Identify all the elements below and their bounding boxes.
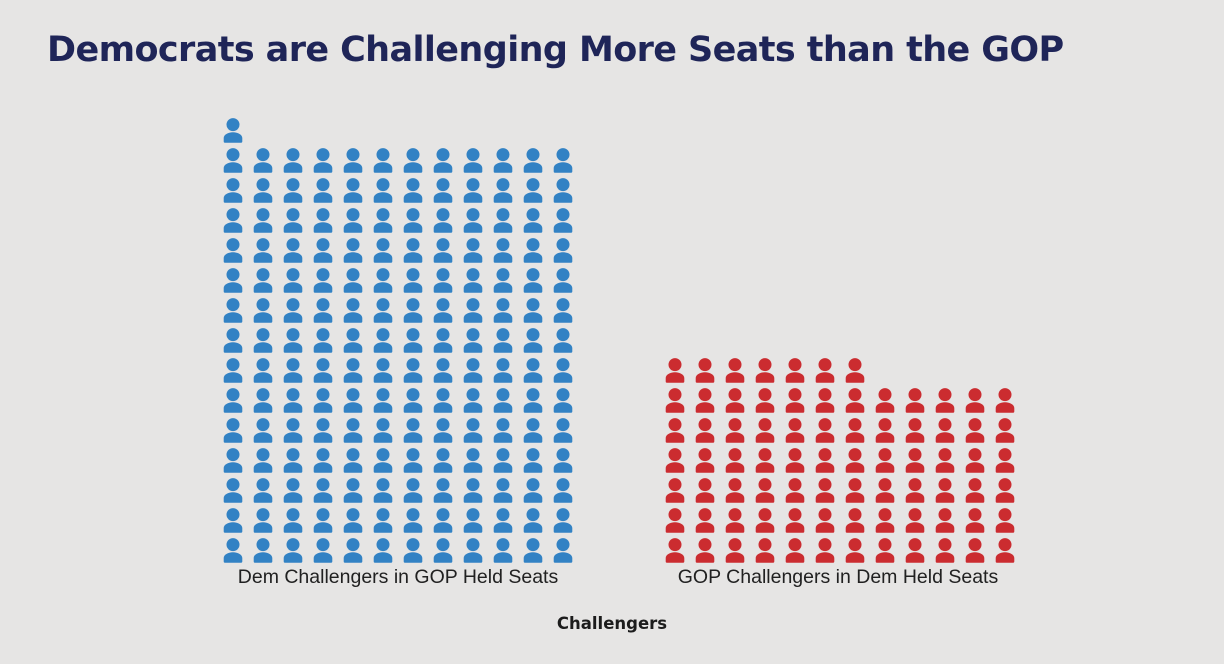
person-icon [458,175,488,205]
person-icon-shape [550,208,576,233]
person-icon [308,175,338,205]
person-icon [810,505,840,535]
pictogram-row [660,385,1020,415]
person-icon [398,295,428,325]
person-icon-shape [280,358,306,383]
person-icon [840,445,870,475]
person-icon-shape [400,448,426,473]
pictogram-row [218,325,578,355]
person-icon-shape [752,358,778,383]
person-icon-shape [722,478,748,503]
person-icon-shape [280,448,306,473]
person-icon-shape [520,538,546,563]
person-icon-shape [280,538,306,563]
person-icon-shape [752,478,778,503]
person-icon [930,415,960,445]
person-icon-shape [902,388,928,413]
person-icon [218,505,248,535]
pictogram-row [218,355,578,385]
person-icon [660,535,690,565]
person-icon [960,535,990,565]
person-icon-shape [460,298,486,323]
pictogram-row [660,505,1020,535]
person-icon [548,535,578,565]
person-icon-shape [872,538,898,563]
person-icon [398,475,428,505]
person-icon [780,475,810,505]
person-icon-shape [310,538,336,563]
person-icon [548,355,578,385]
person-icon [398,205,428,235]
person-icon [810,535,840,565]
person-icon-shape [692,538,718,563]
person-icon [518,355,548,385]
person-icon-shape [460,148,486,173]
person-icon-shape [460,208,486,233]
person-icon [338,535,368,565]
person-icon-shape [430,178,456,203]
person-icon [810,415,840,445]
person-icon [548,385,578,415]
person-icon [428,295,458,325]
person-icon [990,505,1020,535]
person-icon [750,385,780,415]
person-icon [518,145,548,175]
person-icon [690,475,720,505]
person-icon [218,265,248,295]
person-icon [278,385,308,415]
person-icon [398,445,428,475]
person-icon [428,505,458,535]
person-icon [308,445,338,475]
person-icon [308,325,338,355]
person-icon [518,205,548,235]
person-icon [548,445,578,475]
person-icon-shape [460,358,486,383]
person-icon [368,235,398,265]
person-icon [248,355,278,385]
person-icon-shape [520,388,546,413]
person-icon-shape [220,478,246,503]
person-icon-shape [992,538,1018,563]
person-icon [398,145,428,175]
person-icon [488,505,518,535]
person-icon-shape [370,418,396,443]
person-icon [278,205,308,235]
person-icon-shape [812,388,838,413]
person-icon [900,505,930,535]
person-icon [870,505,900,535]
person-icon-shape [280,148,306,173]
person-icon-shape [752,538,778,563]
pictogram-row [218,175,578,205]
person-icon [810,385,840,415]
person-icon [368,355,398,385]
person-icon-shape [220,178,246,203]
person-icon-shape [460,238,486,263]
plot-area: Dem Challengers in GOP Held Seats GOP Ch… [0,0,1224,664]
person-icon [248,295,278,325]
person-icon-shape [400,508,426,533]
person-icon-shape [662,358,688,383]
person-icon-shape [490,538,516,563]
person-icon-shape [220,148,246,173]
person-icon-shape [340,388,366,413]
person-icon-shape [962,508,988,533]
person-icon-shape [250,538,276,563]
person-icon-shape [460,448,486,473]
person-icon [398,535,428,565]
person-icon-shape [520,328,546,353]
person-icon-shape [490,418,516,443]
person-icon-shape [550,298,576,323]
person-icon [488,205,518,235]
person-icon [428,535,458,565]
person-icon [720,445,750,475]
person-icon-shape [460,478,486,503]
person-icon [810,355,840,385]
person-icon [338,325,368,355]
person-icon [428,475,458,505]
person-icon [870,385,900,415]
person-icon [870,445,900,475]
person-icon [720,505,750,535]
person-icon-shape [280,418,306,443]
person-icon-shape [430,328,456,353]
person-icon-shape [520,358,546,383]
person-icon-shape [550,448,576,473]
person-icon [428,445,458,475]
person-icon [458,385,488,415]
person-icon-shape [842,478,868,503]
person-icon [338,505,368,535]
person-icon-shape [370,268,396,293]
person-icon-shape [902,538,928,563]
pictogram-chart: Democrats are Challenging More Seats tha… [0,0,1224,664]
person-icon [810,475,840,505]
person-icon-shape [662,478,688,503]
person-icon-shape [932,418,958,443]
person-icon [278,295,308,325]
person-icon-shape [550,238,576,263]
person-icon-shape [310,268,336,293]
person-icon-shape [310,418,336,443]
person-icon [780,415,810,445]
person-icon-shape [722,388,748,413]
person-icon-shape [220,298,246,323]
person-icon [488,145,518,175]
person-icon-shape [490,238,516,263]
person-icon [548,175,578,205]
person-icon [398,325,428,355]
person-icon [368,505,398,535]
person-icon-shape [280,478,306,503]
person-icon [308,355,338,385]
person-icon-shape [220,328,246,353]
person-icon [398,355,428,385]
person-icon-shape [520,298,546,323]
person-icon-shape [460,388,486,413]
pictogram-grid-gop [660,355,1020,565]
person-icon-shape [460,418,486,443]
person-icon [368,145,398,175]
person-icon [900,385,930,415]
person-icon-shape [842,448,868,473]
person-icon-shape [812,508,838,533]
person-icon [488,265,518,295]
person-icon-shape [280,508,306,533]
person-icon [488,355,518,385]
person-icon-shape [550,178,576,203]
person-icon [840,535,870,565]
person-icon-shape [782,538,808,563]
person-icon-shape [662,388,688,413]
pictogram-row [218,235,578,265]
person-icon-shape [220,238,246,263]
person-icon-shape [752,448,778,473]
person-icon [278,325,308,355]
person-icon-shape [250,508,276,533]
person-icon [248,385,278,415]
person-icon [248,475,278,505]
person-icon [218,295,248,325]
person-icon [720,535,750,565]
person-icon-shape [782,478,808,503]
person-icon [278,535,308,565]
person-icon [248,415,278,445]
person-icon [518,505,548,535]
person-icon-shape [400,358,426,383]
person-icon-shape [992,418,1018,443]
person-icon-shape [370,448,396,473]
person-icon [780,385,810,415]
person-icon [780,505,810,535]
person-icon-shape [662,538,688,563]
person-icon-shape [220,208,246,233]
person-icon [248,445,278,475]
person-icon [458,535,488,565]
person-icon-shape [490,268,516,293]
person-icon [308,295,338,325]
person-icon [338,265,368,295]
person-icon [338,475,368,505]
person-icon [428,355,458,385]
person-icon-shape [662,418,688,443]
person-icon [660,445,690,475]
person-icon [368,415,398,445]
person-icon [548,145,578,175]
person-icon-shape [932,508,958,533]
person-icon-shape [932,448,958,473]
person-icon [368,385,398,415]
person-icon [518,475,548,505]
person-icon [518,295,548,325]
person-icon [368,295,398,325]
person-icon-shape [310,358,336,383]
pictogram-group-gop [660,348,1020,565]
person-icon [218,385,248,415]
person-icon [488,385,518,415]
person-icon-shape [842,538,868,563]
person-icon [518,535,548,565]
person-icon-shape [520,178,546,203]
person-icon [840,385,870,415]
person-icon [338,445,368,475]
person-icon [248,505,278,535]
person-icon [218,115,248,145]
person-icon-shape [490,478,516,503]
person-icon-shape [430,388,456,413]
person-icon [248,325,278,355]
person-icon-shape [490,208,516,233]
person-icon [900,445,930,475]
person-icon-shape [280,238,306,263]
person-icon-shape [310,478,336,503]
person-icon-shape [722,538,748,563]
pictogram-row [660,355,870,385]
person-icon-shape [250,148,276,173]
person-icon-shape [722,418,748,443]
person-icon [488,445,518,475]
person-icon-shape [902,508,928,533]
person-icon [488,325,518,355]
person-icon [750,445,780,475]
person-icon [458,205,488,235]
person-icon [398,235,428,265]
person-icon [398,265,428,295]
person-icon [690,505,720,535]
person-icon [458,475,488,505]
person-icon [278,235,308,265]
person-icon-shape [340,328,366,353]
person-icon [548,475,578,505]
person-icon [428,385,458,415]
person-icon [518,415,548,445]
person-icon-shape [280,268,306,293]
person-icon-shape [250,238,276,263]
person-icon-shape [370,508,396,533]
person-icon-shape [250,178,276,203]
person-icon-shape [370,178,396,203]
person-icon [308,535,338,565]
person-icon-shape [220,358,246,383]
person-icon-shape [782,388,808,413]
person-icon [278,175,308,205]
person-icon [278,475,308,505]
person-icon-shape [400,268,426,293]
pictogram-row [218,115,248,145]
pictogram-row [218,445,578,475]
person-icon [338,145,368,175]
person-icon [720,385,750,415]
person-icon-shape [722,448,748,473]
person-icon [960,475,990,505]
person-icon-shape [430,418,456,443]
person-icon-shape [490,298,516,323]
person-icon-shape [310,148,336,173]
person-icon [518,325,548,355]
person-icon [750,505,780,535]
person-icon-shape [280,208,306,233]
person-icon [930,535,960,565]
person-icon [308,415,338,445]
person-icon [870,535,900,565]
person-icon [720,415,750,445]
person-icon-shape [310,208,336,233]
person-icon-shape [280,298,306,323]
person-icon-shape [490,388,516,413]
person-icon-shape [430,358,456,383]
person-icon-shape [250,328,276,353]
person-icon-shape [280,328,306,353]
person-icon-shape [812,538,838,563]
person-icon [900,535,930,565]
person-icon-shape [220,538,246,563]
person-icon [750,475,780,505]
person-icon [690,415,720,445]
person-icon [690,535,720,565]
person-icon-shape [812,448,838,473]
person-icon-shape [280,178,306,203]
person-icon [308,385,338,415]
person-icon [488,235,518,265]
person-icon [218,415,248,445]
pictogram-row [218,415,578,445]
person-icon [458,325,488,355]
pictogram-row [218,205,578,235]
person-icon-shape [220,268,246,293]
person-icon [518,265,548,295]
person-icon [458,295,488,325]
person-icon [368,535,398,565]
person-icon-shape [430,508,456,533]
person-icon-shape [932,538,958,563]
person-icon [960,445,990,475]
person-icon [368,205,398,235]
person-icon [278,265,308,295]
person-icon-shape [782,358,808,383]
person-icon-shape [400,178,426,203]
person-icon-shape [902,448,928,473]
person-icon [548,205,578,235]
person-icon-shape [310,178,336,203]
person-icon [930,445,960,475]
person-icon-shape [902,418,928,443]
person-icon [990,535,1020,565]
person-icon [218,355,248,385]
person-icon [840,505,870,535]
person-icon-shape [250,358,276,383]
person-icon-shape [370,208,396,233]
person-icon [458,355,488,385]
person-icon [398,385,428,415]
person-icon-shape [340,418,366,443]
person-icon [278,355,308,385]
person-icon [338,385,368,415]
person-icon-shape [842,418,868,443]
person-icon [840,355,870,385]
person-icon [750,415,780,445]
person-icon-shape [812,418,838,443]
person-icon-shape [490,508,516,533]
person-icon [780,535,810,565]
person-icon-shape [400,238,426,263]
person-icon-shape [340,238,366,263]
person-icon-shape [662,508,688,533]
person-icon [428,205,458,235]
person-icon-shape [430,448,456,473]
person-icon-shape [460,178,486,203]
